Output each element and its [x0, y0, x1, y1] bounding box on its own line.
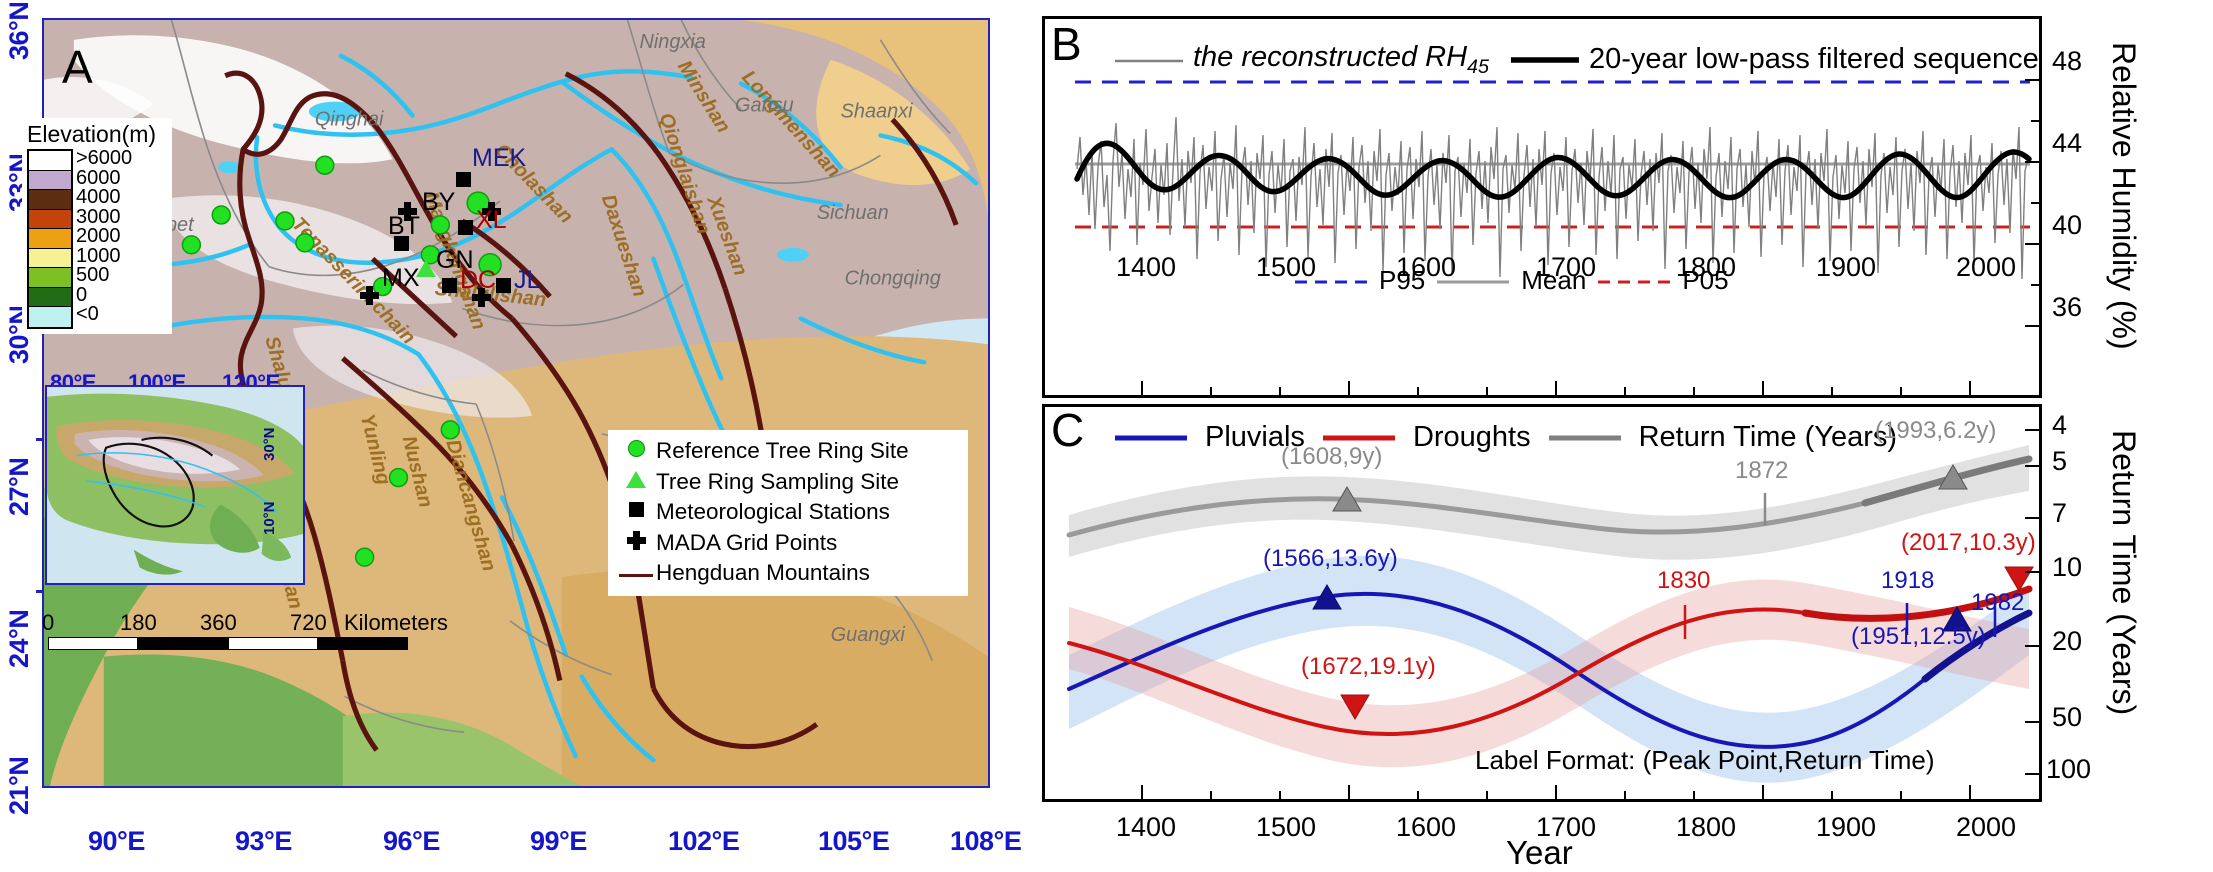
site-label-mx: MX: [382, 264, 420, 293]
map-legend-label-reference-site: Reference Tree Ring Site: [656, 438, 909, 464]
panel-c-xlabel-1500: 1500: [1256, 812, 1316, 843]
lon-label-105e: 105°E: [818, 826, 889, 857]
map-tick-lat-24: [36, 590, 44, 593]
panel-c-xaxis-title: Year: [1506, 834, 1573, 872]
map-legend-label-mada-points: MADA Grid Points: [656, 530, 837, 556]
panel-c-xlabel-1800: 1800: [1676, 812, 1736, 843]
panel-b-legend: the reconstructed RH45 20-year low-pass …: [1115, 41, 2039, 79]
black-square-icon: [616, 502, 656, 522]
legend-label-return-time: Return Time (Years): [1639, 421, 1897, 454]
label-format-note: Label Format: (Peak Point,Return Time): [1475, 745, 1935, 776]
figure-root: 36°N 33°N 30°N 27°N 24°N 21°N 90°E 93°E …: [0, 0, 2213, 870]
panel-b-xlabel-1700: 1700: [1536, 252, 1596, 283]
site-label-xl: XL: [476, 206, 507, 235]
panel-c-ylabel-50: 50: [2052, 702, 2082, 733]
panel-b-legend-thresholds: P95 Mean P05: [1295, 265, 1729, 296]
panel-b-yaxis-title: Relative Humidity (%): [2105, 42, 2142, 350]
panel-c-ytick-20: [2025, 645, 2039, 647]
site-label-bt: BT: [388, 212, 420, 241]
elev-swatch-500: [29, 268, 71, 288]
panel-b-ylabel-48: 48: [2052, 46, 2082, 77]
panel-c-xtick-m7: [1831, 791, 1833, 799]
panel-c-ytick-50: [2025, 721, 2039, 723]
panel-b-xlabel-2000: 2000: [1956, 252, 2016, 283]
map-scale-bar: 0 180 360 720 Kilometers: [48, 610, 408, 654]
annot-1830: 1830: [1657, 567, 1710, 595]
black-plus-icon: [616, 531, 656, 555]
panel-c-xtick-m8: [1900, 791, 1902, 799]
elev-swatch-4000: [29, 190, 71, 210]
panel-b-ytick-36: [2025, 325, 2039, 327]
panel-c-xtick-m5: [1624, 791, 1626, 799]
panel-c-xlabel-1400: 1400: [1116, 812, 1176, 843]
map-legend: Reference Tree Ring Site Tree Ring Sampl…: [608, 430, 968, 596]
elev-swatch-1000: [29, 249, 71, 269]
panel-b-xlabel-1800: 1800: [1676, 252, 1736, 283]
panel-c-xlabel-1900: 1900: [1816, 812, 1876, 843]
site-label-mek: MEK: [472, 144, 526, 173]
annot-1982: 1982: [1971, 589, 2024, 617]
map-legend-label-sampling-site: Tree Ring Sampling Site: [656, 469, 899, 495]
panel-c-inner: [1045, 407, 2039, 799]
lat-label-36n: 36°N: [4, 2, 35, 60]
panel-b-ytick-48: [2025, 79, 2039, 81]
scale-seg-3: [228, 637, 318, 650]
lon-label-102e: 102°E: [668, 826, 739, 857]
annot-1672: (1672,19.1y): [1301, 653, 1436, 681]
inset-lat-label-30n: 30°N: [261, 427, 278, 461]
legend-item-reconstructed: the reconstructed RH45: [1115, 41, 1497, 79]
scale-tick-720: 720: [290, 610, 327, 636]
site-marker-xl-square[interactable]: [458, 220, 473, 240]
panel-b-xtick-m3: [1417, 387, 1419, 395]
legend-label-reconstructed: the reconstructed RH45: [1193, 41, 1497, 79]
annot-1993: (1993,6.2y): [1875, 417, 1996, 445]
panel-b-xtick-1700: [1762, 381, 1764, 395]
panel-c-ytick-4: [2025, 429, 2039, 431]
site-label-by: BY: [422, 188, 455, 217]
panel-c-xtick-1800: [1969, 785, 1971, 799]
panel-c-ytick-10: [2025, 571, 2039, 573]
panel-b-ytick-42: [2031, 202, 2039, 204]
panel-b-ytick-38: [2031, 284, 2039, 286]
panel-c-ytick-7: [2025, 517, 2039, 519]
elev-swatch-gt6000: [29, 151, 71, 171]
map-legend-row-sampling-site: Tree Ring Sampling Site: [616, 467, 960, 498]
lon-label-108e: 108°E: [950, 826, 1021, 857]
site-marker-jl-square[interactable]: [496, 278, 511, 298]
panel-b-xtick-m8: [1900, 387, 1902, 395]
elev-swatch-3000: [29, 210, 71, 230]
panel-c-letter: C: [1051, 403, 1084, 457]
panel-b-ytick-44: [2025, 161, 2039, 163]
panel-b-xtick-m4: [1486, 387, 1488, 395]
panel-b-xtick-m2: [1279, 387, 1281, 395]
elev-label-500: 500: [76, 266, 132, 286]
site-marker-mek-square[interactable]: [456, 172, 471, 192]
brown-line-icon: [616, 564, 656, 582]
panel-b-plot[interactable]: B the reconstructed RH45 20-year low-pas…: [1042, 16, 2042, 398]
panel-c-xtick-m6: [1693, 791, 1695, 799]
elev-swatch-2000: [29, 229, 71, 249]
grey-line-icon: [1115, 51, 1183, 69]
panel-b-ylabel-36: 36: [2052, 292, 2082, 323]
panel-c-yaxis-title: Return Time (Years): [2105, 430, 2142, 715]
scale-tick-360: 360: [200, 610, 237, 636]
grey-line-icon-c: [1549, 429, 1621, 447]
panel-b-xtick-1400: [1141, 381, 1143, 395]
annot-1872: 1872: [1735, 457, 1788, 485]
p05-dash-icon: [1598, 272, 1670, 290]
scale-unit: Kilometers: [344, 610, 448, 636]
elevation-legend-title: Elevation(m): [27, 121, 168, 147]
elev-swatch-6000: [29, 171, 71, 191]
legend-label-lowpass: 20-year low-pass filtered sequence: [1589, 43, 2039, 76]
panel-b-xtick-m6: [1693, 387, 1695, 395]
legend-label-droughts: Droughts: [1413, 421, 1531, 454]
elevation-labels: >6000 6000 4000 3000 2000 1000 500 0 <0: [76, 149, 132, 329]
panel-b-xlabel-1600: 1600: [1396, 252, 1456, 283]
lon-label-96e: 96°E: [383, 826, 440, 857]
panel-b-letter: B: [1051, 17, 1082, 71]
panel-c-xtick-1500: [1348, 785, 1350, 799]
panel-c-plot[interactable]: C Pluvials Droughts Return Time (Years) …: [1042, 404, 2042, 802]
panel-b-ytick-46: [2031, 120, 2039, 122]
elevation-swatches: [27, 149, 73, 329]
inset-map[interactable]: 30°N 10°N: [45, 385, 305, 585]
panel-c-xtick-1600: [1555, 785, 1557, 799]
map-legend-row-hengduan: Hengduan Mountains: [616, 558, 960, 589]
panel-b-xtick-m1: [1210, 387, 1212, 395]
panel-c-xtick-m3: [1417, 791, 1419, 799]
scale-bar-numbers: 0 180 360 720 Kilometers: [48, 610, 408, 636]
panel-c-ytick-100: [2025, 773, 2039, 775]
green-triangle-icon: [616, 471, 656, 493]
panel-c-ylabel-20: 20: [2052, 626, 2082, 657]
scale-bar-segments: [48, 637, 408, 654]
panel-c-xlabel-2000: 2000: [1956, 812, 2016, 843]
map-legend-label-met-stations: Meteorological Stations: [656, 499, 890, 525]
elev-swatch-lt0: [29, 307, 71, 327]
inset-terrain: [47, 387, 303, 583]
map-legend-row-reference-site: Reference Tree Ring Site: [616, 436, 960, 467]
scale-seg-1: [48, 637, 138, 650]
blue-line-icon: [1115, 429, 1187, 447]
panel-b-ylabel-40: 40: [2052, 210, 2082, 241]
map-legend-row-met-stations: Meteorological Stations: [616, 497, 960, 528]
scale-seg-4: [318, 637, 408, 650]
elevation-legend: Elevation(m) >6000 6000 4000: [22, 118, 172, 334]
lat-label-24n: 24°N: [4, 610, 35, 668]
legend-item-lowpass: 20-year low-pass filtered sequence: [1511, 43, 2039, 76]
panel-c-xtick-m2: [1279, 791, 1281, 799]
black-line-icon: [1511, 51, 1579, 69]
map-legend-row-mada-points: MADA Grid Points: [616, 528, 960, 559]
site-marker-mx-plus[interactable]: [360, 286, 379, 310]
panel-b-xlabel-1500: 1500: [1256, 252, 1316, 283]
elev-swatch-0: [29, 288, 71, 308]
green-circle-icon: [616, 440, 656, 462]
lon-label-90e: 90°E: [88, 826, 145, 857]
panel-b-xtick-m5: [1624, 387, 1626, 395]
panel-c-ylabel-4: 4: [2052, 410, 2067, 441]
scale-seg-2: [138, 637, 228, 650]
panel-b-ytick-40: [2025, 243, 2039, 245]
panel-c-xlabel-1600: 1600: [1396, 812, 1456, 843]
panel-bc-charts: B the reconstructed RH45 20-year low-pas…: [1020, 0, 2213, 870]
panel-c-xtick-1700: [1762, 785, 1764, 799]
panel-b-xtick-m7: [1831, 387, 1833, 395]
panel-a-letter: A: [62, 40, 93, 94]
panel-b-xtick-1800: [1969, 381, 1971, 395]
scale-tick-180: 180: [120, 610, 157, 636]
elev-label-lt0: <0: [76, 305, 132, 325]
panel-c-ylabel-7: 7: [2052, 498, 2067, 529]
lon-label-93e: 93°E: [235, 826, 292, 857]
panel-c-ylabel-100: 100: [2046, 754, 2091, 785]
band-return-time: [1069, 445, 2029, 560]
panel-c-xtick-m4: [1486, 791, 1488, 799]
inset-lat-label-10n: 10°N: [261, 501, 278, 535]
annot-1608: (1608,9y): [1281, 443, 1382, 471]
panel-b-ylabel-44: 44: [2052, 128, 2082, 159]
panel-c-svg: [1045, 407, 2039, 799]
map-legend-label-hengduan: Hengduan Mountains: [656, 560, 870, 586]
map-tick-lat-27: [36, 438, 44, 441]
elev-label-4000: 4000: [76, 188, 132, 208]
site-label-jl: JL: [514, 266, 540, 295]
site-marker-dc-square[interactable]: [442, 278, 457, 298]
annot-2017: (2017,10.3y): [1901, 529, 2036, 557]
annot-1951: (1951,12.5y): [1851, 623, 1986, 651]
panel-a-map: 36°N 33°N 30°N 27°N 24°N 21°N 90°E 93°E …: [0, 0, 1018, 870]
panel-b-xtick-1600: [1555, 381, 1557, 395]
site-label-dc: DC: [460, 266, 496, 295]
panel-c-legend: Pluvials Droughts Return Time (Years): [1115, 421, 1897, 454]
scale-tick-0: 0: [42, 610, 54, 636]
lon-label-99e: 99°E: [530, 826, 587, 857]
annot-1566: (1566,13.6y): [1263, 545, 1398, 573]
panel-b-xtick-1500: [1348, 381, 1350, 395]
panel-c-xtick-1400: [1141, 785, 1143, 799]
panel-c-ytick-5: [2025, 465, 2039, 467]
panel-b-xlabel-1900: 1900: [1816, 252, 1876, 283]
lat-label-21n: 21°N: [4, 757, 35, 815]
panel-b-xlabel-1400: 1400: [1116, 252, 1176, 283]
panel-c-ylabel-5: 5: [2052, 446, 2067, 477]
lat-label-27n: 27°N: [4, 458, 35, 516]
panel-c-xtick-m1: [1210, 791, 1212, 799]
elev-label-2000: 2000: [76, 227, 132, 247]
annot-1918: 1918: [1881, 567, 1934, 595]
panel-c-ylabel-10: 10: [2052, 552, 2082, 583]
elev-label-gt6000: >6000: [76, 149, 132, 169]
